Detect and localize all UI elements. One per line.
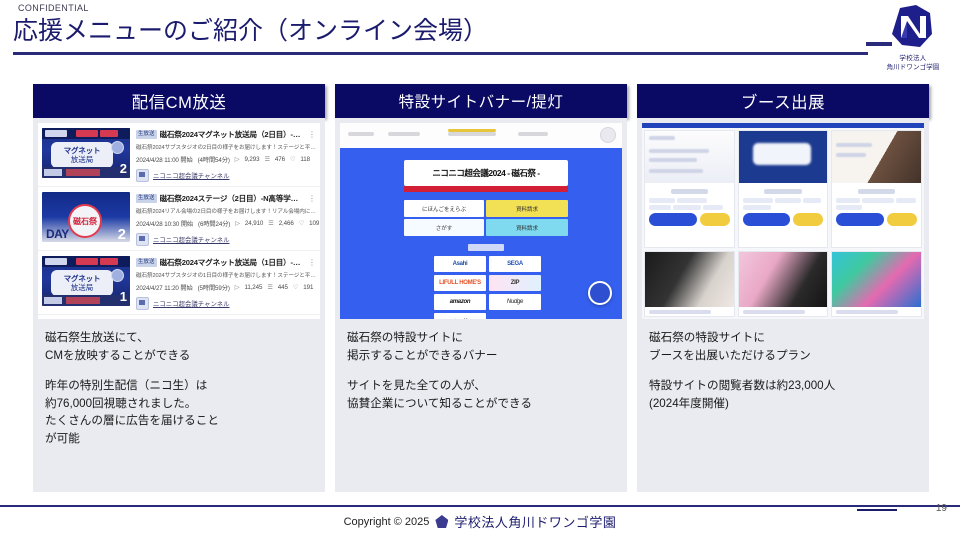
booth-card-image	[832, 252, 921, 307]
site-tile-2[interactable]: 資料請求	[486, 200, 568, 217]
video-likes: 109	[309, 220, 319, 227]
column-body-banner: ニコニコ超会議2024 - 磁石祭 - にほんごをえらぶ 資料請求 さがす 資料…	[335, 118, 627, 492]
footer: Copyright © 2025 学校法人角川ドワンゴ学園	[0, 512, 960, 531]
site-tile-3[interactable]: さがす	[404, 219, 484, 236]
site-avatar-icon[interactable]	[600, 127, 616, 143]
desc-paragraph: 特設サイトの閲覧者数は約23,000人 (2024年度開催)	[649, 377, 917, 412]
column-body-cm: マグネット 放送局 2 生放送 磁石祭2024マグネット放送局（2日目	[33, 118, 325, 492]
thumb-circle-icon	[111, 141, 124, 154]
video-date: 2024/4/28 11:00 開始	[136, 155, 193, 164]
footer-rule	[0, 505, 960, 507]
column-booth: ブース出展	[637, 84, 929, 492]
video-views: 24,910	[245, 220, 263, 227]
thumb-seal: 磁石祭	[68, 204, 102, 238]
video-stats: 2024/4/28 11:00 開始 (4時間54分) ▷ 9,293 ☰ 47…	[136, 155, 316, 164]
site-kv-title: ニコニコ超会議2024 - 磁石祭 -	[432, 167, 539, 179]
video-thumbnail: マグネット 放送局 1	[42, 256, 130, 306]
likes-icon: ♡	[290, 156, 295, 163]
video-comments: 2,466	[279, 220, 294, 227]
booth-card-image	[739, 252, 828, 307]
video-description: 磁石祭2024リアル会場の2日目の様子をお届けします！リアル会場内に設置	[136, 207, 316, 215]
screenshot-niconico-list: マグネット 放送局 2 生放送 磁石祭2024マグネット放送局（2日目	[38, 123, 320, 319]
video-thumbnail: マグネット 放送局 2	[42, 128, 130, 178]
video-meta: 生放送 磁石祭2024マグネット放送局（1日目）-N高等学… ⋮ 磁石祭2024…	[136, 256, 316, 310]
booth-detail-button[interactable]	[743, 213, 791, 226]
desc-paragraph: 磁石祭の特設サイトに 掲示することができるバナー	[347, 329, 615, 364]
booth-card-body	[832, 183, 921, 229]
site-tile-4[interactable]: 資料請求	[486, 219, 568, 236]
site-tile-1[interactable]: にほんごをえらぶ	[404, 200, 484, 217]
booth-card-name	[764, 189, 801, 194]
booth-card-image	[645, 131, 734, 183]
list-item[interactable]: 磁石祭 DAY 2 生放送 磁石祭2024ステージ（2日目）-N高等学校 S高等…	[38, 187, 320, 251]
channel-name[interactable]: ニコニコ超会議チャンネル	[153, 171, 230, 180]
desc-paragraph: サイトを見た全ての人が、 協賛企業について知ることができる	[347, 377, 615, 412]
comments-icon: ☰	[268, 220, 273, 227]
booth-card-name	[671, 189, 708, 194]
channel-icon	[136, 233, 149, 246]
booth-card-image	[832, 131, 921, 183]
footer-logo-icon	[435, 515, 448, 528]
booth-card[interactable]	[831, 251, 922, 317]
video-meta: 生放送 磁石祭2024マグネット放送局（2日目）-N高等学… ⋮ 磁石祭2024…	[136, 128, 316, 182]
booth-page	[642, 123, 924, 319]
video-views: 11,245	[244, 284, 262, 291]
booth-card-actions	[743, 213, 824, 226]
more-options-icon[interactable]: ⋮	[306, 258, 316, 267]
site-hero-area: ニコニコ超会議2024 - 磁石祭 - にほんごをえらぶ 資料請求 さがす 資料…	[340, 148, 622, 319]
booth-card-caption	[645, 307, 734, 316]
live-badge: 生放送	[136, 258, 157, 267]
column-description-booth: 磁石祭の特設サイトに ブースを出展いただけるプラン 特設サイトの閲覧者数は約23…	[637, 319, 929, 412]
booth-card-tags	[836, 198, 917, 210]
sponsor-logo[interactable]: SEGA	[489, 256, 541, 272]
video-comments: 445	[278, 284, 288, 291]
booth-card-body	[645, 183, 734, 229]
booth-new-badge	[887, 213, 917, 226]
booth-card-actions	[649, 213, 730, 226]
booth-card-image	[645, 252, 734, 307]
channel-icon	[136, 297, 149, 310]
video-stats: 2024/4/28 10:30 開始 (6時間24分) ▷ 24,910 ☰ 2…	[136, 219, 316, 228]
comments-icon: ☰	[267, 284, 272, 291]
video-duration: (5時間59分)	[198, 283, 230, 292]
sponsor-section-label	[468, 244, 504, 251]
booth-card-grid	[642, 128, 924, 319]
page-title: 応援メニューのご紹介（オンライン会場）	[13, 16, 488, 46]
screenshot-booth-grid	[642, 123, 924, 319]
booth-card-body	[739, 183, 828, 229]
video-duration: (4時間54分)	[198, 155, 230, 164]
logo-line2: 角川ドワンゴ学園	[878, 61, 948, 71]
video-title[interactable]: 磁石祭2024ステージ（2日目）-N高等学校 S高等…	[160, 193, 303, 204]
likes-icon: ♡	[299, 220, 304, 227]
site-kv-ribbon	[404, 186, 568, 192]
booth-card-actions	[836, 213, 917, 226]
sponsor-logo[interactable]: Asahi	[434, 256, 486, 272]
views-icon: ▷	[235, 156, 240, 163]
thumb-circle-icon	[111, 269, 124, 282]
title-underline	[13, 52, 868, 55]
page-number: 19	[936, 503, 947, 514]
page-number-rule	[857, 509, 897, 511]
video-duration: (6時間24分)	[198, 219, 230, 228]
video-stats: 2024/4/27 11:20 開始 (5時間59分) ▷ 11,245 ☰ 4…	[136, 283, 316, 292]
thumb-text-2: 放送局	[71, 283, 94, 292]
video-date: 2024/4/27 11:20 開始	[136, 283, 193, 292]
comments-icon: ☰	[264, 156, 269, 163]
booth-detail-button[interactable]	[836, 213, 884, 226]
desc-paragraph: 磁石祭生放送にて、 CMを放映することができる	[45, 329, 313, 364]
thumb-text-2: 放送局	[71, 155, 94, 164]
video-channel[interactable]: ニコニコ超会議チャンネル	[136, 169, 316, 182]
footer-org-name: 学校法人角川ドワンゴ学園	[454, 512, 616, 531]
column-cm-broadcast: 配信CM放送 マグネット 放送局 2	[33, 84, 325, 492]
booth-detail-button[interactable]	[649, 213, 697, 226]
live-badge: 生放送	[136, 130, 157, 139]
video-date: 2024/4/28 10:30 開始	[136, 219, 193, 228]
video-channel[interactable]: ニコニコ超会議チャンネル	[136, 297, 316, 310]
screenshot-special-site: ニコニコ超会議2024 - 磁石祭 - にほんごをえらぶ 資料請求 さがす 資料…	[340, 123, 622, 319]
channel-name[interactable]: ニコニコ超会議チャンネル	[153, 299, 230, 308]
booth-card-tags	[649, 198, 730, 210]
thumb-day-word: DAY	[46, 227, 69, 241]
school-logo: 学校法人 角川ドワンゴ学園	[868, 2, 952, 74]
n-mark-icon	[886, 4, 938, 50]
thumb-day-number: 2	[120, 162, 127, 175]
channel-icon	[136, 169, 149, 182]
site-topnav	[340, 123, 622, 149]
sponsor-logo-grid: Asahi SEGA LIFULL HOME'S ZIP amazon Nudg…	[434, 256, 542, 319]
copyright-text: Copyright © 2025	[344, 516, 430, 528]
column-heading-banner: 特設サイトバナー/提灯	[335, 84, 627, 118]
thumb-day-number: 2	[118, 227, 126, 242]
views-icon: ▷	[235, 284, 240, 291]
likes-icon: ♡	[293, 284, 298, 291]
column-description-banner: 磁石祭の特設サイトに 掲示することができるバナー サイトを見た全ての人が、 協賛…	[335, 319, 627, 412]
column-body-booth: 磁石祭の特設サイトに ブースを出展いただけるプラン 特設サイトの閲覧者数は約23…	[637, 118, 929, 492]
booth-card-caption	[739, 307, 828, 316]
column-description-cm: 磁石祭生放送にて、 CMを放映することができる 昨年の特別生配信（ニコ生）は 約…	[33, 319, 325, 447]
video-description: 磁石祭2024サブスタジオの1日目の様子をお届けします！ステージと平行し…	[136, 271, 316, 279]
booth-card[interactable]	[831, 130, 922, 248]
video-channel[interactable]: ニコニコ超会議チャンネル	[136, 233, 316, 246]
desc-paragraph: 磁石祭の特設サイトに ブースを出展いただけるプラン	[649, 329, 917, 364]
more-options-icon[interactable]: ⋮	[306, 194, 316, 203]
list-item[interactable]: マグネット 放送局 2 生放送 磁石祭2024マグネット放送局（2日目	[38, 123, 320, 187]
more-options-icon[interactable]: ⋮	[306, 130, 316, 139]
column-heading-cm: 配信CM放送	[33, 84, 325, 118]
thumb-text-1: マグネット	[64, 146, 101, 155]
booth-card[interactable]	[644, 130, 735, 248]
views-icon: ▷	[235, 220, 240, 227]
video-title[interactable]: 磁石祭2024マグネット放送局（2日目）-N高等学…	[160, 129, 303, 140]
slide: CONFIDENTIAL 応援メニューのご紹介（オンライン会場） 学校法人 角川…	[0, 0, 960, 540]
booth-card[interactable]	[738, 130, 829, 248]
sponsor-logo[interactable]: その他	[434, 313, 486, 319]
video-meta: 生放送 磁石祭2024ステージ（2日目）-N高等学校 S高等… ⋮ 磁石祭202…	[136, 192, 316, 246]
booth-card-caption	[832, 307, 921, 316]
video-comments: 476	[275, 156, 285, 163]
booth-card-tags	[743, 198, 824, 210]
video-description: 磁石祭2024サブスタジオの2日目の様子をお届けします！ステージと平行し…	[136, 143, 316, 151]
site-floating-action-icon[interactable]	[588, 281, 612, 305]
booth-new-badge	[793, 213, 823, 226]
video-views: 9,293	[244, 156, 259, 163]
sponsor-logo[interactable]: amazon	[434, 294, 486, 310]
live-badge: 生放送	[136, 194, 157, 203]
thumb-day-number: 1	[120, 290, 127, 303]
confidential-label: CONFIDENTIAL	[18, 3, 89, 13]
video-likes: 118	[300, 156, 310, 163]
booth-new-badge	[700, 213, 730, 226]
special-site-page: ニコニコ超会議2024 - 磁石祭 - にほんごをえらぶ 資料請求 さがす 資料…	[340, 123, 622, 319]
list-item[interactable]: マグネット 放送局 1 生放送 磁石祭2024マグネット放送局（1日目	[38, 251, 320, 315]
thumb-text-1: マグネット	[64, 274, 101, 283]
channel-name[interactable]: ニコニコ超会議チャンネル	[153, 235, 230, 244]
desc-paragraph: 昨年の特別生配信（ニコ生）は 約76,000回視聴されました。 たくさんの層に広…	[45, 377, 313, 447]
booth-card-name	[858, 189, 895, 194]
video-title[interactable]: 磁石祭2024マグネット放送局（1日目）-N高等学…	[160, 257, 303, 268]
column-site-banner: 特設サイトバナー/提灯 ニ	[335, 84, 627, 492]
sponsor-logo[interactable]: Nudge	[489, 294, 541, 310]
sponsor-logo[interactable]: LIFULL HOME'S	[434, 275, 486, 291]
video-thumbnail: 磁石祭 DAY 2	[42, 192, 130, 242]
booth-card[interactable]	[644, 251, 735, 317]
booth-card-image	[739, 131, 828, 183]
booth-card[interactable]	[738, 251, 829, 317]
menu-columns: 配信CM放送 マグネット 放送局 2	[33, 84, 929, 492]
column-heading-booth: ブース出展	[637, 84, 929, 118]
sponsor-logo[interactable]: ZIP	[489, 275, 541, 291]
site-key-visual: ニコニコ超会議2024 - 磁石祭 -	[404, 160, 568, 186]
video-likes: 191	[303, 284, 313, 291]
